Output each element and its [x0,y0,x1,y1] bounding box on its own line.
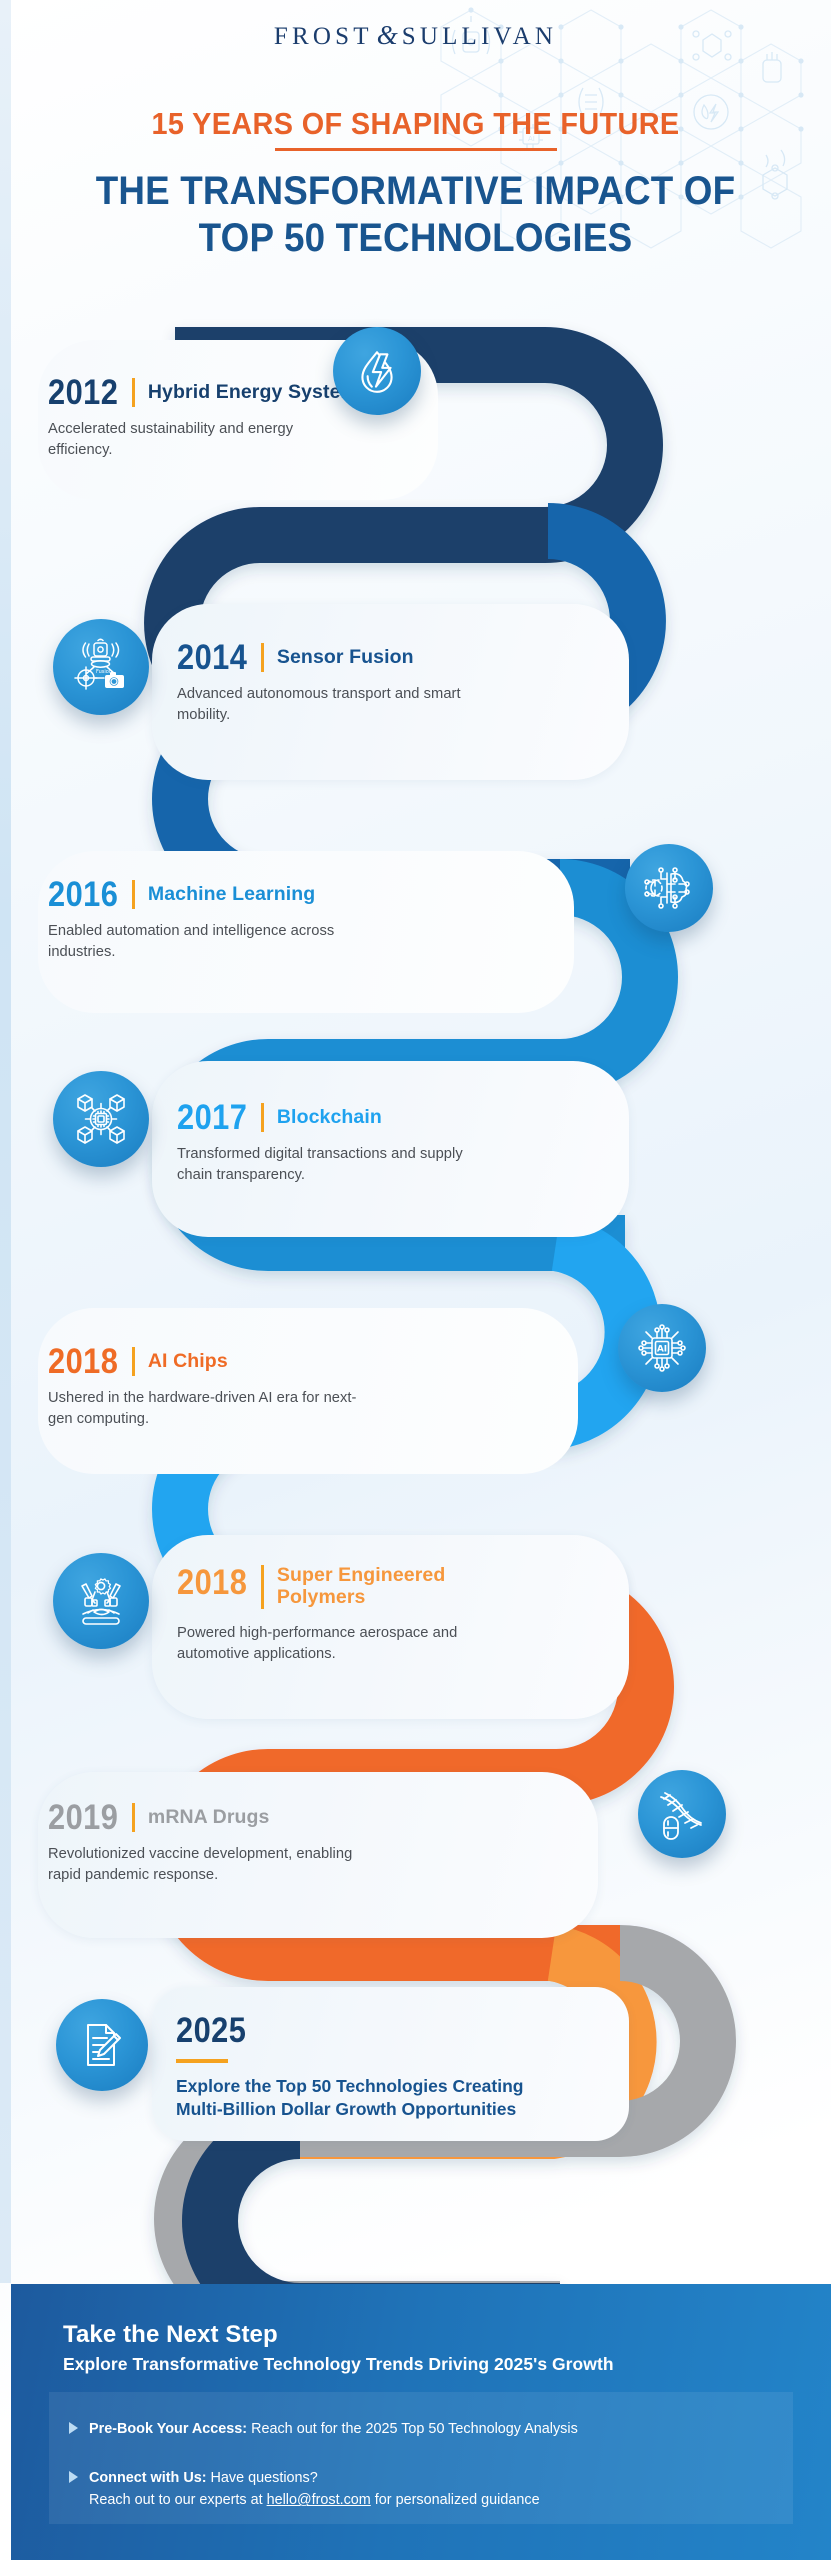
timeline-card-content: 2018 AI Chips Ushered in the hardware-dr… [48,1344,366,1430]
timeline-card-content: 2018 Super Engineered Polymers Powered h… [177,1565,497,1665]
timeline-year: 2019 [48,1800,118,1835]
footer-bullet-text: Reach out for the 2025 Top 50 Technology… [247,2421,578,2437]
footer-bullet-label: Pre-Book Your Access: [89,2421,247,2437]
timeline-card-content: 2016 Machine Learning Enabled automation… [48,877,348,963]
footer-email-link[interactable]: hello@frost.com [267,2492,371,2508]
logo-text-sullivan: SULLIVAN [402,23,557,50]
timeline-description: Powered high-performance aerospace and a… [177,1623,497,1665]
timeline-tech-name: Super Engineered Polymers [277,1565,487,1609]
sensor-fusion-camera-icon: Fusion [53,619,149,715]
footer-bullet-connect[interactable]: Connect with Us: Have questions? Reach o… [69,2467,540,2512]
year-tech-line: 2019 mRNA Drugs [48,1800,378,1835]
energy-droplet-bolt-icon [333,327,421,415]
timeline-year: 2012 [48,375,118,410]
cta-card-content: 2025 Explore the Top 50 Technologies Cre… [176,2013,523,2121]
timeline-year: 2017 [177,1100,247,1135]
page-title-line1: THE TRANSFORMATIVE IMPACT OF [33,168,798,215]
infographic-page: AI FROST&SULLIVAN 15 YEARS OF SHAPING TH… [0,0,831,2560]
year-tech-line: 2017 Blockchain [177,1100,477,1135]
page-title-line2: TOP 50 TECHNOLOGIES [33,215,798,262]
footer-bullet-prebook[interactable]: Pre-Book Your Access: Reach out for the … [69,2418,578,2440]
header-kicker: 15 YEARS OF SHAPING THE FUTURE [29,108,802,139]
year-tech-line: 2018 Super Engineered Polymers [177,1565,497,1609]
timeline-card-content: 2019 mRNA Drugs Revolutionized vaccine d… [48,1800,378,1886]
timeline-description: Advanced autonomous transport and smart … [177,684,477,726]
footer-bullet-text: Have questions? [207,2470,318,2486]
brain-circuit-glyph [641,860,697,916]
timeline-tech-name: mRNA Drugs [148,1807,270,1829]
timeline-year: 2016 [48,877,118,912]
timeline-tech-name: Machine Learning [148,884,315,906]
page-title: THE TRANSFORMATIVE IMPACT OF TOP 50 TECH… [33,168,798,262]
year-divider [261,1103,264,1132]
ai-chip-icon: AI [618,1304,706,1392]
sensor-camera-glyph: Fusion [71,637,131,697]
robotic-arms-aerospace-icon [53,1553,149,1649]
kicker-underline [275,148,557,151]
ai-chip-glyph: AI [634,1320,690,1376]
ai-brain-circuit-icon [625,844,713,932]
cta-year: 2025 [176,2013,482,2048]
year-divider [261,1565,264,1609]
brand-logo: FROST&SULLIVAN [0,20,831,51]
footer-subheading: Explore Transformative Technology Trends… [63,2354,614,2375]
timeline-description: Transformed digital transactions and sup… [177,1144,477,1186]
timeline-year: 2018 [177,1565,247,1600]
svg-text:Fusion: Fusion [96,669,112,675]
year-tech-line: 2018 AI Chips [48,1344,366,1379]
cta-text-line2: Multi-Billion Dollar Growth Opportunitie… [176,2098,523,2121]
year-tech-line: 2016 Machine Learning [48,877,348,912]
robot-arm-plane-glyph [72,1572,130,1630]
logo-text-frost: FROST [274,23,373,50]
dna-pill-glyph [655,1787,709,1841]
droplet-bolt-glyph [352,346,402,396]
year-divider [132,880,135,909]
logo-ampersand: & [373,20,402,50]
timeline-card-content: 2012 Hybrid Energy Systems Accelerated s… [48,375,369,461]
footer-contact-post: for personalized guidance [371,2492,540,2508]
document-edit-glyph [76,2019,128,2071]
document-pencil-icon [56,1999,148,2091]
cta-underline [176,2059,228,2063]
year-divider [132,1347,135,1376]
timeline-description: Accelerated sustainability and energy ef… [48,419,328,461]
timeline-year: 2018 [48,1344,118,1379]
timeline-card-content: 2014 Sensor Fusion Advanced autonomous t… [177,640,477,726]
timeline-tech-name: Blockchain [277,1107,382,1129]
year-divider [132,378,135,407]
timeline-year: 2014 [177,640,247,675]
timeline-tech-name: AI Chips [148,1351,228,1373]
header-block: FROST&SULLIVAN 15 YEARS OF SHAPING THE F… [0,0,831,330]
dna-capsule-icon [638,1770,726,1858]
footer-contact-pre: Reach out to our experts at [89,2492,267,2508]
footer-bullet-label: Connect with Us: [89,2470,207,2486]
svg-text:AI: AI [657,1345,667,1355]
timeline-description: Revolutionized vaccine development, enab… [48,1844,378,1886]
triangle-bullet-icon [69,2422,78,2434]
year-divider [261,643,264,672]
triangle-bullet-icon [69,2471,78,2483]
year-tech-line: 2014 Sensor Fusion [177,640,477,675]
blockchain-nodes-icon [53,1071,149,1167]
footer-heading: Take the Next Step [63,2321,278,2349]
timeline-tech-name: Sensor Fusion [277,647,414,669]
timeline-card-content: 2017 Blockchain Transformed digital tran… [177,1100,477,1186]
cta-text-line1: Explore the Top 50 Technologies Creating [176,2075,523,2098]
timeline-description: Enabled automation and intelligence acro… [48,921,348,963]
timeline-description: Ushered in the hardware-driven AI era fo… [48,1388,366,1430]
blockchain-cube-network-glyph [72,1090,130,1148]
footer-cta-block: Take the Next Step Explore Transformativ… [11,2284,831,2560]
year-divider [132,1803,135,1832]
year-tech-line: 2012 Hybrid Energy Systems [48,375,369,410]
